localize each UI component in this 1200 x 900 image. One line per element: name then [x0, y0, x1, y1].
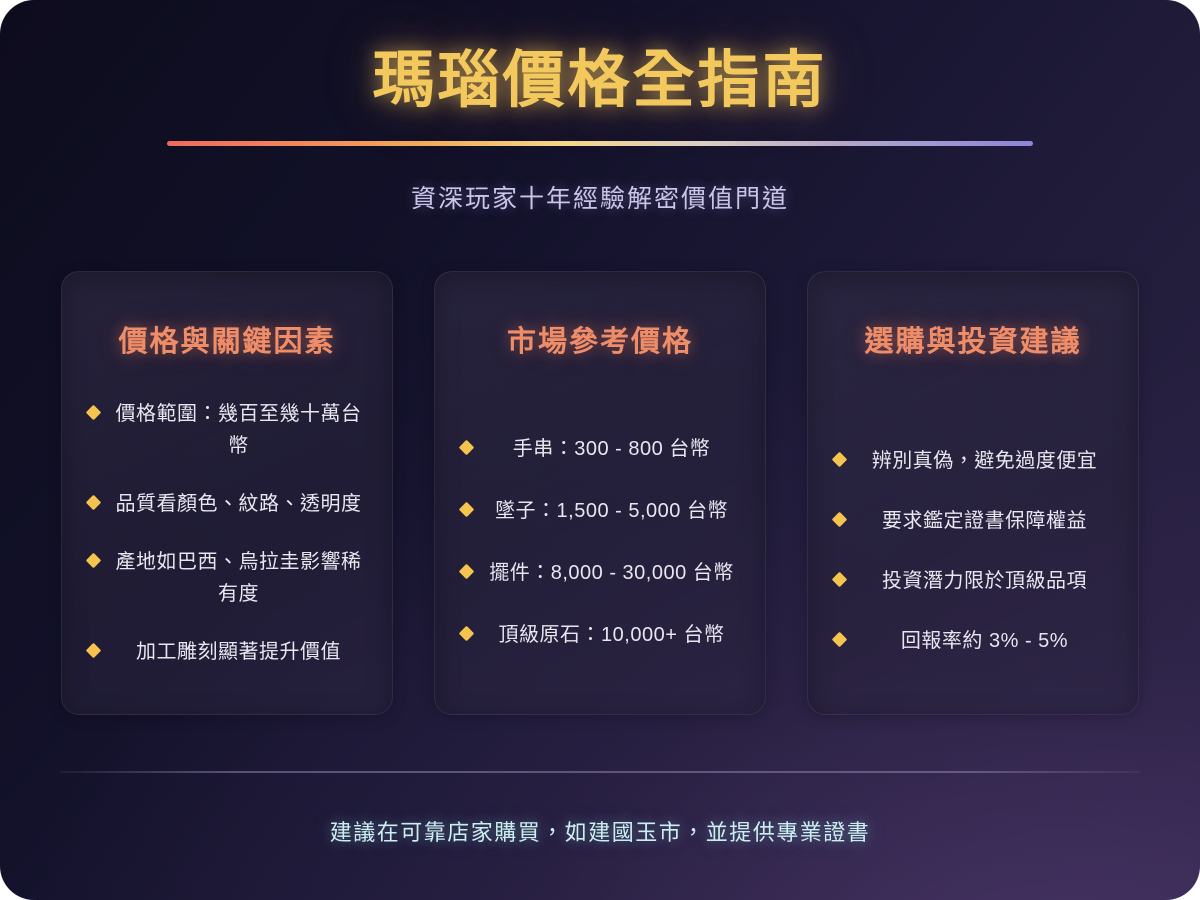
card-title: 選購與投資建議 [864, 318, 1081, 360]
list-item-label: 回報率約 3% - 5% [857, 625, 1112, 657]
bullet-list: 價格範圍：幾百至幾十萬台幣 品質看顏色、紋路、透明度 產地如巴西、烏拉圭影響稀有… [82, 376, 372, 690]
diamond-bullet-icon [86, 495, 102, 511]
diamond-bullet-icon [832, 452, 848, 468]
list-item-label: 頂級原石：10,000+ 台幣 [484, 619, 739, 651]
diamond-bullet-icon [86, 553, 102, 569]
diamond-bullet-icon [459, 440, 475, 456]
list-item: 價格範圍：幾百至幾十萬台幣 [82, 398, 372, 462]
list-item: 擺件：8,000 - 30,000 台幣 [455, 557, 745, 589]
list-item-label: 手串：300 - 800 台幣 [484, 433, 739, 465]
list-item: 要求鑑定證書保障權益 [828, 505, 1118, 537]
diamond-bullet-icon [832, 632, 848, 648]
list-item: 辨別真偽，避免過度便宜 [828, 445, 1118, 477]
diamond-bullet-icon [832, 572, 848, 588]
card-market-prices: 市場參考價格 手串：300 - 800 台幣 墜子：1,500 - 5,000 … [434, 271, 766, 715]
list-item-label: 產地如巴西、烏拉圭影響稀有度 [111, 546, 366, 610]
bullet-list: 辨別真偽，避免過度便宜 要求鑑定證書保障權益 投資潛力限於頂級品項 回報率約 3… [828, 412, 1118, 690]
card-price-factors: 價格與關鍵因素 價格範圍：幾百至幾十萬台幣 品質看顏色、紋路、透明度 產地如巴西… [61, 271, 393, 715]
list-item: 手串：300 - 800 台幣 [455, 433, 745, 465]
diamond-bullet-icon [86, 643, 102, 659]
card-title: 價格與關鍵因素 [118, 318, 335, 360]
diamond-bullet-icon [459, 564, 475, 580]
list-item-label: 加工雕刻顯著提升價值 [111, 636, 366, 668]
list-item-label: 品質看顏色、紋路、透明度 [111, 488, 366, 520]
list-item: 品質看顏色、紋路、透明度 [82, 488, 372, 520]
list-item-label: 辨別真偽，避免過度便宜 [857, 445, 1112, 477]
card-buying-advice: 選購與投資建議 辨別真偽，避免過度便宜 要求鑑定證書保障權益 投資潛力限於頂級品… [807, 271, 1139, 715]
diamond-bullet-icon [459, 626, 475, 642]
card-title: 市場參考價格 [507, 318, 693, 360]
list-item-label: 價格範圍：幾百至幾十萬台幣 [111, 398, 366, 462]
list-item-label: 擺件：8,000 - 30,000 台幣 [484, 557, 739, 589]
header: 瑪瑙價格全指南 資深玩家十年經驗解密價值門道 [0, 0, 1200, 215]
list-item: 投資潛力限於頂級品項 [828, 565, 1118, 597]
diamond-bullet-icon [832, 512, 848, 528]
diamond-bullet-icon [86, 405, 102, 421]
list-item-label: 要求鑑定證書保障權益 [857, 505, 1112, 537]
list-item-label: 墜子：1,500 - 5,000 台幣 [484, 495, 739, 527]
list-item: 加工雕刻顯著提升價值 [82, 636, 372, 668]
list-item: 墜子：1,500 - 5,000 台幣 [455, 495, 745, 527]
page-subtitle: 資深玩家十年經驗解密價值門道 [0, 179, 1200, 215]
footer-divider [60, 771, 1140, 773]
bullet-list: 手串：300 - 800 台幣 墜子：1,500 - 5,000 台幣 擺件：8… [455, 394, 745, 690]
list-item: 頂級原石：10,000+ 台幣 [455, 619, 745, 651]
page-title: 瑪瑙價格全指南 [0, 46, 1200, 115]
diamond-bullet-icon [459, 502, 475, 518]
cards-container: 價格與關鍵因素 價格範圍：幾百至幾十萬台幣 品質看顏色、紋路、透明度 產地如巴西… [0, 271, 1200, 715]
title-divider [167, 141, 1033, 146]
list-item-label: 投資潛力限於頂級品項 [857, 565, 1112, 597]
infographic-slide: 瑪瑙價格全指南 資深玩家十年經驗解密價值門道 價格與關鍵因素 價格範圍：幾百至幾… [0, 0, 1200, 900]
list-item: 產地如巴西、烏拉圭影響稀有度 [82, 546, 372, 610]
list-item: 回報率約 3% - 5% [828, 625, 1118, 657]
footer-note: 建議在可靠店家購買，如建國玉市，並提供專業證書 [0, 815, 1200, 847]
